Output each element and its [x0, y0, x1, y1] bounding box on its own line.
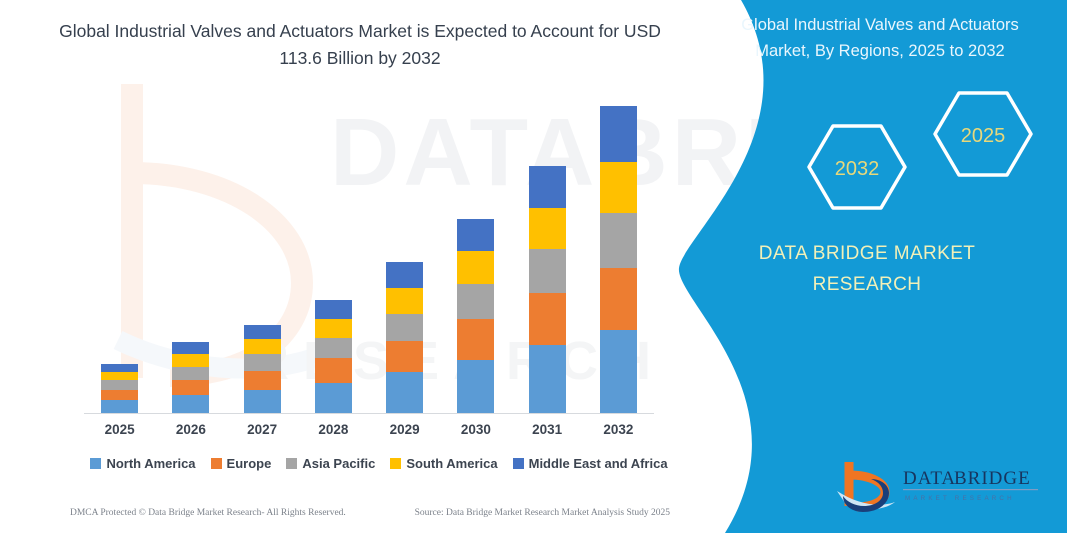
- bar-column: [369, 96, 440, 414]
- x-axis-label: 2026: [155, 422, 226, 437]
- x-axis-label: 2027: [227, 422, 298, 437]
- bar-segment: [386, 341, 423, 372]
- x-axis-labels: 20252026202720282029203020312032: [84, 422, 654, 437]
- bar-segment: [457, 360, 494, 414]
- bar-segment: [101, 364, 138, 372]
- brand-name-line1: DATA BRIDGE MARKET: [697, 238, 1037, 269]
- bar-column: [298, 96, 369, 414]
- hexagon-2025-label: 2025: [961, 125, 1006, 147]
- x-axis-label: 2029: [369, 422, 440, 437]
- bar-segment: [101, 390, 138, 401]
- bar-segment: [600, 330, 637, 414]
- chart-legend: North AmericaEuropeAsia PacificSouth Ame…: [84, 456, 674, 471]
- bar-column: [512, 96, 583, 414]
- stacked-bar: [386, 262, 423, 414]
- x-axis-label: 2032: [583, 422, 654, 437]
- bar-segment: [529, 345, 566, 414]
- chart-plot-area: [84, 96, 654, 414]
- legend-swatch-icon: [513, 458, 524, 469]
- bar-segment: [172, 380, 209, 395]
- footer: DMCA Protected © Data Bridge Market Rese…: [70, 508, 670, 518]
- bar-segment: [529, 208, 566, 249]
- bar-segment: [600, 268, 637, 330]
- bar-segment: [386, 262, 423, 288]
- chart-panel: Global Industrial Valves and Actuators M…: [0, 0, 740, 533]
- legend-swatch-icon: [286, 458, 297, 469]
- bar-segment: [457, 219, 494, 252]
- legend-item[interactable]: Middle East and Africa: [513, 456, 668, 471]
- brand-panel: Global Industrial Valves and Actuators M…: [667, 0, 1067, 533]
- bar-segment: [457, 319, 494, 360]
- x-axis-line: [84, 413, 654, 414]
- bar-segment: [315, 383, 352, 414]
- hexagon-2032: 2032: [809, 126, 905, 208]
- panel-title: Global Industrial Valves and Actuators M…: [715, 12, 1045, 65]
- legend-swatch-icon: [211, 458, 222, 469]
- brand-name: DATA BRIDGE MARKET RESEARCH: [697, 238, 1037, 301]
- bar-segment: [529, 166, 566, 208]
- bar-column: [227, 96, 298, 414]
- stacked-bar: [529, 166, 566, 414]
- stacked-bar: [101, 364, 138, 414]
- legend-label: North America: [106, 456, 195, 471]
- x-axis-label: 2028: [298, 422, 369, 437]
- bar-segment: [172, 367, 209, 381]
- infographic-root: DATABRIDGE RESEARCH Global Industrial Va…: [0, 0, 1067, 533]
- bar-column: [84, 96, 155, 414]
- footer-copyright: DMCA Protected © Data Bridge Market Rese…: [70, 508, 346, 518]
- logo-mark-icon: [837, 462, 895, 512]
- bar-segment: [101, 380, 138, 389]
- bar-segment: [172, 354, 209, 366]
- year-hexagons: 2025 2032: [787, 88, 1047, 213]
- legend-label: South America: [406, 456, 497, 471]
- hexagon-2025: 2025: [935, 93, 1031, 175]
- bar-segment: [529, 293, 566, 345]
- bar-segment: [244, 325, 281, 340]
- bar-segment: [244, 339, 281, 354]
- bar-segment: [600, 106, 637, 162]
- logo-text-data: DATA: [903, 468, 956, 489]
- data-bridge-logo: DATA BRIDGE MARKET RESEARCH: [835, 458, 1045, 514]
- legend-item[interactable]: Asia Pacific: [286, 456, 375, 471]
- page-title: Global Industrial Valves and Actuators M…: [40, 18, 680, 72]
- bar-segment: [101, 372, 138, 380]
- bar-segment: [315, 319, 352, 338]
- bar-column: [440, 96, 511, 414]
- x-axis-label: 2025: [84, 422, 155, 437]
- logo-text-bridge: BRIDGE: [954, 468, 1031, 489]
- stacked-bar: [244, 325, 281, 414]
- bar-segment: [386, 288, 423, 314]
- bar-segment: [244, 354, 281, 370]
- legend-item[interactable]: South America: [390, 456, 497, 471]
- stacked-bar: [172, 342, 209, 414]
- bar-segment: [172, 342, 209, 354]
- brand-name-line2: RESEARCH: [697, 269, 1037, 300]
- stacked-bar: [600, 106, 637, 414]
- legend-label: Asia Pacific: [302, 456, 375, 471]
- legend-item[interactable]: Europe: [211, 456, 272, 471]
- bar-segment: [315, 338, 352, 358]
- hexagon-2032-label: 2032: [835, 158, 880, 180]
- stacked-bar: [315, 300, 352, 414]
- bar-segment: [600, 162, 637, 214]
- legend-label: Middle East and Africa: [529, 456, 668, 471]
- stacked-bar-group: [84, 96, 654, 414]
- logo-text-sub: MARKET RESEARCH: [905, 495, 1015, 502]
- bar-column: [155, 96, 226, 414]
- x-axis-label: 2030: [440, 422, 511, 437]
- legend-swatch-icon: [390, 458, 401, 469]
- legend-label: Europe: [227, 456, 272, 471]
- footer-source: Source: Data Bridge Market Research Mark…: [415, 508, 670, 518]
- bar-segment: [172, 395, 209, 414]
- bar-segment: [315, 358, 352, 382]
- bar-segment: [600, 213, 637, 267]
- stacked-bar: [457, 219, 494, 414]
- bar-segment: [386, 314, 423, 341]
- x-axis-label: 2031: [512, 422, 583, 437]
- bar-column: [583, 96, 654, 414]
- legend-swatch-icon: [90, 458, 101, 469]
- bar-segment: [457, 284, 494, 319]
- logo-rule: [903, 489, 1038, 490]
- bar-segment: [386, 372, 423, 414]
- legend-item[interactable]: North America: [90, 456, 195, 471]
- bar-segment: [244, 390, 281, 414]
- bar-segment: [457, 251, 494, 284]
- bar-segment: [315, 300, 352, 319]
- bar-segment: [101, 400, 138, 414]
- bar-segment: [244, 371, 281, 390]
- bar-segment: [529, 249, 566, 294]
